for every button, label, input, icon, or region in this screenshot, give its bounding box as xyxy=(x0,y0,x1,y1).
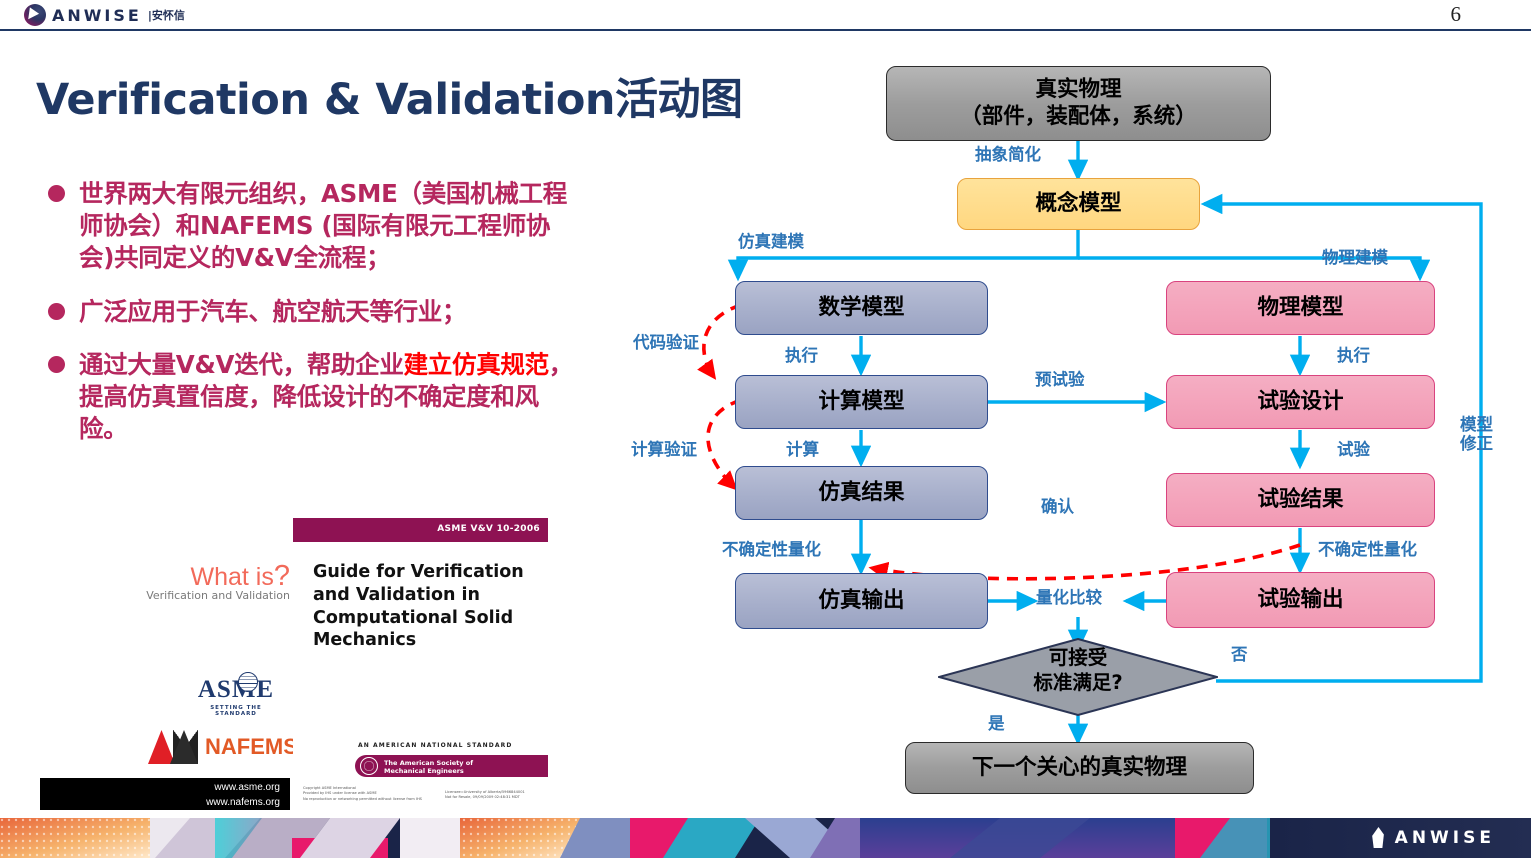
flow-node-math-model[interactable]: 数学模型 xyxy=(735,281,988,335)
edge-label-pretest: 预试验 xyxy=(1035,370,1085,389)
flow-node-test-design[interactable]: 试验设计 xyxy=(1166,375,1435,429)
footer-logo: ANWISE xyxy=(1371,827,1495,848)
flow-node-concept-model[interactable]: 概念模型 xyxy=(957,178,1200,230)
flow-node-compute-model[interactable]: 计算模型 xyxy=(735,375,988,429)
edge-label-code-verify: 代码验证 xyxy=(633,333,699,352)
edge-label-calculate: 计算 xyxy=(786,440,819,459)
edge-label-confirm: 确认 xyxy=(1041,497,1074,516)
flow-node-decision-label: 可接受 标准满足? xyxy=(938,646,1218,696)
flow-node-real-physics[interactable]: 真实物理 （部件，装配体，系统） xyxy=(886,66,1271,141)
flow-node-sim-output[interactable]: 仿真输出 xyxy=(735,573,988,629)
edge-label-calc-verify: 计算验证 xyxy=(631,440,697,459)
edge-label-yes: 是 xyxy=(988,714,1005,733)
vv-activity-flowchart: 真实物理 （部件，装配体，系统） 概念模型 数学模型 计算模型 仿真结果 仿真输… xyxy=(0,0,1531,815)
edge-label-phys-modeling: 物理建模 xyxy=(1322,248,1388,267)
edge-label-no: 否 xyxy=(1231,645,1248,664)
flow-node-test-result[interactable]: 试验结果 xyxy=(1166,473,1435,527)
flow-node-physical-model[interactable]: 物理模型 xyxy=(1166,281,1435,335)
edge-label-test: 试验 xyxy=(1337,440,1370,459)
edge-label-uq-right: 不确定性量化 xyxy=(1318,540,1417,559)
flow-node-test-output[interactable]: 试验输出 xyxy=(1166,572,1435,628)
footer-pattern xyxy=(0,818,1531,858)
footer-logo-text: ANWISE xyxy=(1395,828,1495,848)
edge-label-uq-left: 不确定性量化 xyxy=(722,540,821,559)
edge-label-quant-compare: 量化比较 xyxy=(1036,588,1102,607)
edge-label-abstraction: 抽象简化 xyxy=(975,145,1041,164)
footer-bar: ANWISE xyxy=(0,818,1531,858)
flow-node-next-physics[interactable]: 下一个关心的真实物理 xyxy=(905,742,1254,794)
edge-label-sim-modeling: 仿真建模 xyxy=(738,232,804,251)
edge-label-execute-right: 执行 xyxy=(1337,346,1370,365)
edge-label-execute-left: 执行 xyxy=(785,346,818,365)
edge-label-model-fix: 模型 修正 xyxy=(1460,415,1493,454)
footer-logo-icon xyxy=(1371,827,1386,848)
flow-node-sim-result[interactable]: 仿真结果 xyxy=(735,466,988,520)
flow-node-decision[interactable]: 可接受 标准满足? xyxy=(938,638,1218,716)
